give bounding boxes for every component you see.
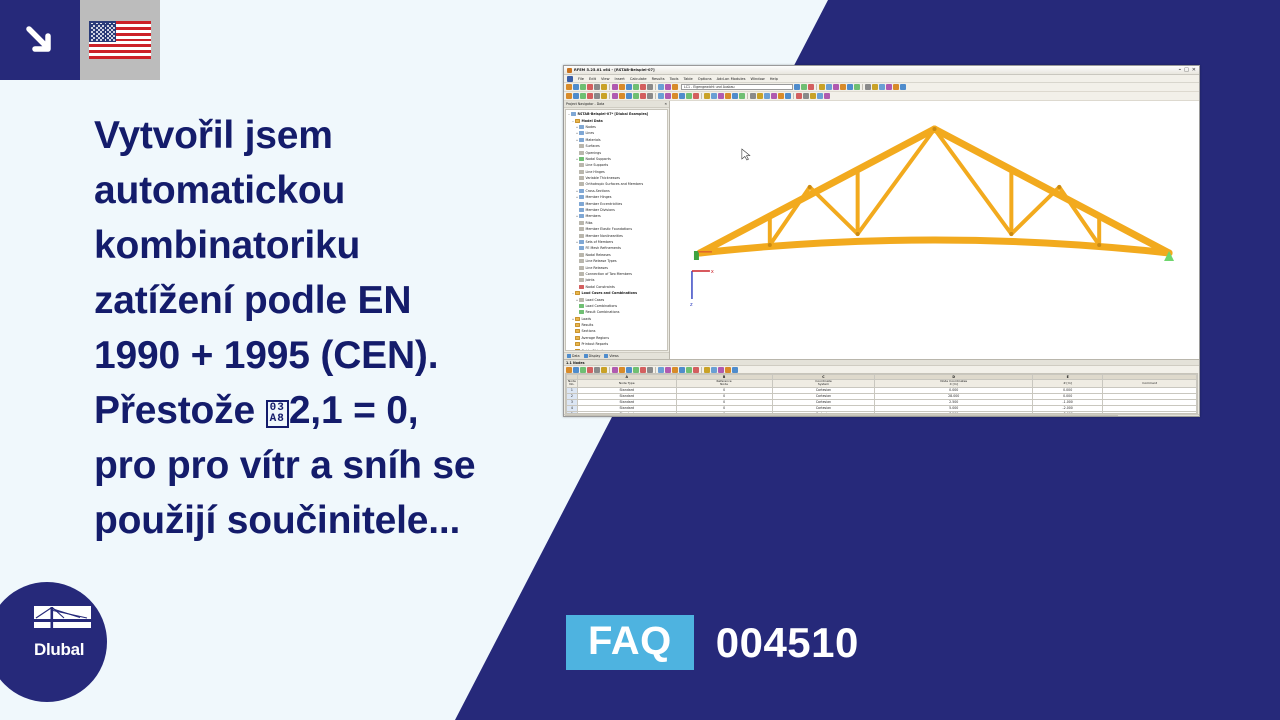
headline-line-7: pro pro vítr a sníh se [94,438,524,493]
toolbar-button[interactable] [810,93,816,99]
toolbar-button[interactable] [757,93,763,99]
tree-item-label: Materials [586,138,601,142]
tree-item-label: Average Regions [582,336,610,340]
tree-item-label: Variable Thicknesses [586,176,620,180]
tree-item-icon [579,163,584,167]
table-tab-materials[interactable]: Materials [596,415,616,417]
tree-item-label: Joints [586,278,595,282]
toolbar-button[interactable] [704,93,710,99]
headline-line-6-suffix: 2,1 = 0, [289,389,419,432]
tree-item-label: Results [582,323,594,327]
rfem-menu-bar[interactable]: File Edit View Insert Calculate Results … [564,75,1199,83]
usa-flag-icon [80,0,160,80]
tree-item-label: Connection of Two Members [586,272,632,276]
table-grid[interactable]: ABCDENodeNo.Node TypeReferenceNodeCoordi… [565,373,1198,414]
tree-item-icon [579,240,584,244]
tree-item-icon [579,189,584,193]
headline-line-3: kombinatoriku [94,218,524,273]
toolbar-separator [816,84,817,90]
headline-line-6-prefix: Přestože [94,389,266,432]
toolbar-button[interactable] [739,93,745,99]
table-header-2: ReferenceNode [676,380,772,388]
table-header-4: Node CoordinatesX [m] [875,380,1033,388]
headline-line-5: 1990 + 1995 (CEN). [94,328,524,383]
toolbar-separator [655,367,656,373]
toolbar-button[interactable] [601,84,607,90]
toolbar-button[interactable] [612,84,618,90]
rfem-app-icon [567,68,572,73]
navigator-tabs[interactable]: Data Display Views [564,352,669,359]
tree-item-icon [579,176,584,180]
toolbar-button[interactable] [612,367,618,373]
tree-item-icon [579,234,584,238]
menu-item-calculate[interactable]: Calculate [630,77,647,81]
toolbar-button[interactable] [587,367,593,373]
toolbar-button[interactable] [619,93,625,99]
toolbar-button[interactable] [796,93,802,99]
menu-app-icon [567,76,573,82]
tree-item-icon [575,329,580,333]
menu-item-edit[interactable]: Edit [589,77,596,81]
tree-item-icon [575,336,580,340]
tree-item-label: Member Eccentricities [586,202,623,206]
toolbar-separator [701,93,702,99]
toolbar-button[interactable] [826,84,832,90]
faq-number: 004510 [716,622,859,664]
toolbar-button[interactable] [686,93,692,99]
tree-item-label: Members [586,214,601,218]
navigator-close-icon[interactable]: ✕ [664,102,667,106]
toolbar-separator [862,84,863,90]
table-header-3: CoordinateSystem [772,380,875,388]
tree-item-label: RSTAB-Beispiel-07* [Dlubal Examples] [578,112,649,116]
truss-model-graphic: x z [670,101,1199,359]
tree-item-label: Nodal Constraints [586,285,615,289]
tree-item-label: Ribs [586,221,593,225]
maximize-icon[interactable]: □ [1184,68,1189,73]
page-title: Vytvořil jsem automatickou kombinatoriku… [94,108,524,548]
toolbar-button[interactable] [647,367,653,373]
toolbar-button[interactable] [626,367,632,373]
toolbar-button[interactable] [633,84,639,90]
rfem-title-bar: RFEM 5.25.01 x64 - [RSTAB-Beispiel-07] –… [564,66,1199,75]
navigator-tab-data[interactable]: Data [566,354,581,358]
tree-item-label: Nodal Supports [586,157,611,161]
tree-item-label: Nodal Releases [586,253,611,257]
tables-panel[interactable]: 1.1 Nodes ABCDENodeNo.Node TypeReference… [564,359,1199,417]
tree-item-icon [579,298,584,302]
toolbar-button[interactable] [640,93,646,99]
tree-item-icon [579,125,584,129]
tree-item-label: Line Hinges [586,170,605,174]
tree-item-icon [575,342,580,346]
missing-glyph-bottom: A8 [270,414,285,425]
toolbar-button[interactable] [587,93,593,99]
toolbar-button[interactable] [665,84,671,90]
toolbar-button[interactable] [647,84,653,90]
toolbar-button[interactable] [658,93,664,99]
toolbar-button[interactable] [626,84,632,90]
logo-text: Dlubal [34,640,94,660]
toolbar-button[interactable] [686,367,692,373]
svg-text:z: z [690,302,693,308]
headline-line-2: automatickou [94,163,524,218]
table-tab-cross-sections[interactable]: Cross-Sections [737,415,766,417]
table-tab-member-hinges[interactable]: Member Hinges [766,415,796,417]
toolbar-button[interactable] [573,367,579,373]
table-tab-nodal-supports[interactable]: Nodal Supports [656,415,686,417]
toolbar-button[interactable] [594,93,600,99]
menu-item-insert[interactable]: Insert [615,77,625,81]
toolbar-button[interactable] [633,93,639,99]
toolbar-button[interactable] [619,367,625,373]
toolbar-button[interactable] [771,93,777,99]
tree-item-icon [579,182,584,186]
toolbar-button[interactable] [658,84,664,90]
toolbar-button[interactable] [711,93,717,99]
tree-item-icon [579,310,584,314]
table-header-1: Node Type [577,380,676,388]
tree-item-icon [579,151,584,155]
toolbar-button[interactable] [893,84,899,90]
toolbar-separator [701,367,702,373]
toolbar-button[interactable] [647,93,653,99]
tree-item-icon [575,349,580,351]
tree-item-icon [579,214,584,218]
table-tab-member-nonlinearities[interactable]: Member Nonlinearities [940,415,981,417]
toolbar-button[interactable] [704,367,710,373]
tree-item-label: Cross-Sections [586,189,610,193]
missing-glyph-box: 03A8 [266,400,289,428]
mouse-cursor [742,149,750,160]
tree-item-icon [579,157,584,161]
tree-item-label: Load Cases [586,298,605,302]
tree-item-icon [579,131,584,135]
toolbar-button[interactable] [854,84,860,90]
tree-item-icon [575,291,580,295]
tree-item-icon [579,144,584,148]
toolbar-button[interactable] [658,367,664,373]
toolbar-button[interactable] [672,367,678,373]
tree-item-icon [575,317,580,321]
toolbar-button[interactable] [819,84,825,90]
tree-item-label: Member Elastic Foundations [586,227,633,231]
tree-item-icon [579,272,584,276]
toolbar-button[interactable] [750,93,756,99]
tree-item-label: Lines [586,131,595,135]
toolbar-button[interactable] [764,93,770,99]
toolbar-button[interactable] [785,93,791,99]
toolbar-button[interactable] [900,84,906,90]
toolbar-button[interactable] [672,93,678,99]
toolbar-button[interactable] [725,367,731,373]
tree-item-icon [579,304,584,308]
toolbar-button[interactable] [601,93,607,99]
toolbar-button[interactable] [601,367,607,373]
toolbar-button[interactable] [573,93,579,99]
toolbar-button[interactable] [718,93,724,99]
tree-item-icon [579,138,584,142]
toolbar-button[interactable] [817,93,823,99]
table-tab-line-hinges[interactable]: Line Hinges [713,415,737,417]
toolbar-button[interactable] [566,84,572,90]
toolbar-button[interactable] [732,367,738,373]
navigator-header: Project Navigator - Data ✕ [564,101,669,108]
menu-item-file[interactable]: File [578,77,584,81]
tree-item-label: Model Data [582,119,603,123]
tree-item-icon [579,221,584,225]
table-tab-member-eccentricities[interactable]: Member Eccentricities [796,415,836,417]
tree-item-label: Line Release Types [586,259,617,263]
toolbar-button[interactable] [566,367,572,373]
faq-chip-label: FAQ [566,615,694,670]
toolbar-button[interactable] [879,84,885,90]
toolbar-button[interactable] [594,84,600,90]
toolbar-button[interactable] [886,84,892,90]
toolbar-separator [747,93,748,99]
menu-item-tools[interactable]: Tools [670,77,679,81]
table-toolbar[interactable] [564,366,1199,373]
toolbar-separator [609,93,610,99]
toolbar-button[interactable] [612,93,618,99]
headline-line-4: zatížení podle EN [94,273,524,328]
headline-line-8: použijí součinitele... [94,493,524,548]
table-tab-line-release-types[interactable]: Line Release Types [1082,415,1117,417]
tree-item-label: Printout Reports [582,342,609,346]
project-icon [571,112,576,116]
rfem-toolbar-row-2[interactable] [564,92,1199,101]
toolbar-button[interactable] [824,93,830,99]
tree-item-icon [579,246,584,250]
tree-item-icon [579,227,584,231]
toolbar-button[interactable] [794,84,800,90]
axis-indicator: x z [690,269,714,308]
tree-item-guide-objects[interactable]: +Guide Objects [567,347,667,351]
tree-item-label: FE Mesh Refinements [586,246,621,250]
toolbar-button[interactable] [640,84,646,90]
toolbar-button[interactable] [580,93,586,99]
menu-item-help[interactable]: Help [770,77,778,81]
toolbar-button[interactable] [847,84,853,90]
tree-item-icon [579,208,584,212]
table-tab-member-divisions[interactable]: Member Divisions [837,415,871,417]
toolbar-button[interactable] [672,84,678,90]
toolbar-button[interactable] [865,84,871,90]
tree-item-label: Line Supports [586,163,609,167]
toolbar-separator [655,93,656,99]
tree-item-icon [579,195,584,199]
tree-item-label: Sets of Members [586,240,614,244]
menu-item-table[interactable]: Table [683,77,692,81]
table-tab-line-supports[interactable]: Line Supports [686,415,713,417]
toolbar-button[interactable] [594,367,600,373]
toolbar-button[interactable] [803,93,809,99]
close-icon[interactable]: ✕ [1192,68,1196,73]
toolbar-separator [793,93,794,99]
menu-item-addon-modules[interactable]: Add-on Modules [717,77,746,81]
toolbar-button[interactable] [626,93,632,99]
toolbar-button[interactable] [778,93,784,99]
table-tab-members[interactable]: Members [870,415,890,417]
menu-item-window[interactable]: Window [751,77,765,81]
toolbar-button[interactable] [808,84,814,90]
toolbar-button[interactable] [566,93,572,99]
toolbar-button[interactable] [732,93,738,99]
tree-item-label: Surfaces [586,144,600,148]
table-tab-fe-mesh-refinements[interactable]: FE Mesh Refinements [1013,415,1052,417]
tree-item-label: Orthotropic Surfaces and Members [586,182,644,186]
project-navigator[interactable]: Project Navigator - Data ✕ -RSTAB-Beispi… [564,101,670,359]
model-viewport[interactable]: x z [670,101,1199,359]
table-tab-surfaces[interactable]: Surfaces [616,415,635,417]
table-tabs[interactable]: NodesLinesMaterialsSurfacesOpeningsNodal… [564,414,1199,417]
tree-item-label: Load Cases and Combinations [582,291,638,295]
toolbar-button[interactable] [711,367,717,373]
toolbar-button[interactable] [640,367,646,373]
toolbar-separator [655,84,656,90]
toolbar-button[interactable] [872,84,878,90]
toolbar-separator [609,84,610,90]
tree-item-label: Line Releases [586,266,609,270]
load-case-combo[interactable]: LC1 - Eigengewicht und Ausbau [681,84,793,90]
menu-item-options[interactable]: Options [698,77,712,81]
tree-item-icon [579,170,584,174]
table-tab-lines[interactable]: Lines [582,415,596,417]
toolbar-button[interactable] [573,84,579,90]
tree-item-label: Member Divisions [586,208,615,212]
tree-item-icon [579,285,584,289]
table-tab-sets-of-members[interactable]: Sets of Members [981,415,1013,417]
toolbar-button[interactable] [725,93,731,99]
navigator-title: Project Navigator - Data [566,102,604,106]
top-badges [0,0,160,80]
toolbar-button[interactable] [693,93,699,99]
rfem-application-window: RFEM 5.25.01 x64 - [RSTAB-Beispiel-07] –… [563,65,1200,417]
faq-badge: FAQ 004510 [566,615,859,670]
toolbar-button[interactable] [679,93,685,99]
toolbar-button[interactable] [665,93,671,99]
navigator-tab-views[interactable]: Views [603,354,619,358]
navigator-tree[interactable]: -RSTAB-Beispiel-07* [Dlubal Examples]-Mo… [565,109,668,351]
table-tab-member-elastic-foundations[interactable]: Member Elastic Foundations [891,415,941,417]
tree-item-icon [579,278,584,282]
table-tab-nodal-releases[interactable]: Nodal Releases [1053,415,1083,417]
toolbar-button[interactable] [718,367,724,373]
tree-item-label: Result Combinations [586,310,620,314]
table-header-0: NodeNo. [567,380,578,388]
toolbar-button[interactable] [801,84,807,90]
toolbar-button[interactable] [693,367,699,373]
tree-item-label: Sections [582,329,596,333]
toolbar-button[interactable] [633,367,639,373]
tree-item-icon [579,259,584,263]
tree-item-label: Load Combinations [586,304,618,308]
menu-item-view[interactable]: View [601,77,610,81]
table-header-5: Z [m] [1033,380,1103,388]
truss-bridge-icon [34,606,94,638]
toolbar-button[interactable] [580,367,586,373]
svg-text:x: x [711,269,714,275]
toolbar-button[interactable] [587,84,593,90]
navigator-tab-display[interactable]: Display [583,354,602,358]
headline-line-6: Přestože 03A82,1 = 0, [94,383,524,438]
rfem-window-title: RFEM 5.25.01 x64 - [RSTAB-Beispiel-07] [574,68,1179,72]
tree-item-label: Member Hinges [586,195,612,199]
tree-item-label: Loads [582,317,592,321]
arrow-down-right-icon [0,0,80,80]
tree-item-label: Nodes [586,125,596,129]
table-tab-nodes[interactable]: Nodes [565,415,582,417]
tree-item-icon [575,119,580,123]
headline-line-1: Vytvořil jsem [94,108,524,163]
tree-item-label: Guide Objects [582,349,605,351]
table-tab-openings[interactable]: Openings [636,415,657,417]
tree-item-icon [575,323,580,327]
toolbar-button[interactable] [619,84,625,90]
tree-item-icon [579,202,584,206]
toolbar-separator [609,367,610,373]
toolbar-button[interactable] [840,84,846,90]
toolbar-button[interactable] [665,367,671,373]
tree-item-icon [579,253,584,257]
toolbar-button[interactable] [833,84,839,90]
toolbar-button[interactable] [580,84,586,90]
tree-item-icon [579,266,584,270]
toolbar-button[interactable] [679,367,685,373]
minimize-icon[interactable]: – [1179,68,1182,73]
tree-item-label: Member Nonlinearities [586,234,623,238]
tree-item-label: Openings [586,151,602,155]
menu-item-results[interactable]: Results [652,77,665,81]
rfem-toolbar-row-1[interactable]: LC1 - Eigengewicht und Ausbau [564,83,1199,92]
table-header-comment: Comment [1103,380,1197,388]
